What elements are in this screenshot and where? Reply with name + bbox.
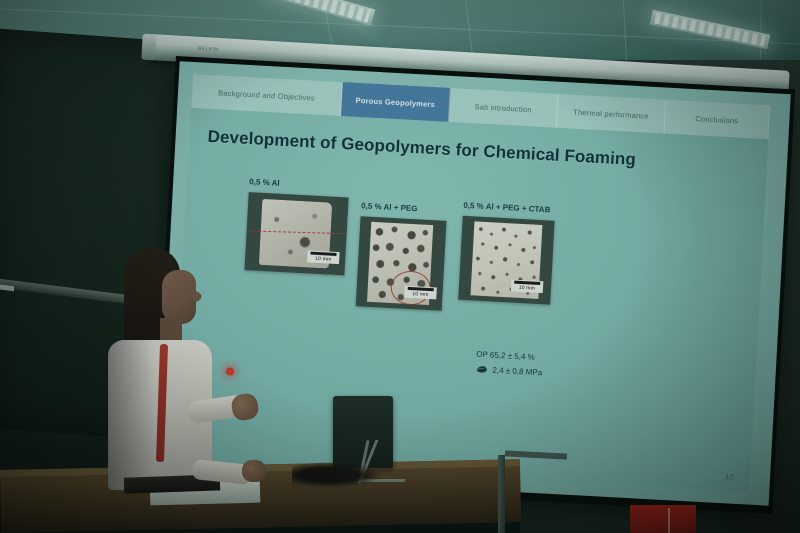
- scale-bar-label-3: 10 mm: [519, 284, 536, 291]
- sample-block-2: 0,5 % Al + PEG 10 mm: [356, 201, 448, 310]
- presenter: [96, 248, 246, 533]
- porosity-value: OP 65,2 ± 5,4 %: [476, 350, 535, 362]
- strength-value: 2,4 ± 0,8 MPa: [492, 365, 542, 377]
- tab-porous-geopolymers[interactable]: Porous Geopolymers: [341, 82, 451, 122]
- strength-muscle-icon: [475, 364, 489, 375]
- red-object-highlight: [668, 508, 670, 533]
- strength-row: 2,4 ± 0,8 MPa: [475, 364, 542, 378]
- roller-brand-label: BELKIN: [198, 46, 219, 53]
- scale-bar-label-2: 10 mm: [412, 291, 429, 298]
- scale-bar-1: 10 mm: [307, 250, 340, 263]
- desk-cables: [292, 462, 382, 488]
- presentation-slide: Background and Objectives Porous Geopoly…: [172, 74, 770, 493]
- scale-bar-2: 10 mm: [404, 286, 437, 299]
- sample-block-1: 0,5 % Al 10 mm: [245, 177, 350, 275]
- red-wall-object: [630, 505, 696, 533]
- screen-support-post: [498, 455, 505, 533]
- tab-salt-introduction[interactable]: Salt introduction: [449, 88, 559, 128]
- lecture-room-scene: BELKIN Background and Objectives Porous …: [0, 0, 800, 533]
- roller-end-cap: [141, 34, 156, 61]
- sample-block-3: 0,5 % Al + PEG + CTAB 10 mm: [458, 201, 555, 305]
- screen-surface: Background and Objectives Porous Geopoly…: [157, 61, 790, 505]
- projection-screen: Background and Objectives Porous Geopoly…: [153, 56, 795, 514]
- metrics-block: OP 65,2 ± 5,4 % 2,4 ± 0,8 MPa: [475, 350, 543, 383]
- chalk-piece: [0, 284, 14, 291]
- tab-thermal-performance[interactable]: Thermal performance: [557, 94, 667, 134]
- scale-bar-3: 10 mm: [511, 279, 544, 292]
- presenter-second-hand: [242, 460, 266, 482]
- tab-conclusions[interactable]: Conclusions: [665, 100, 771, 140]
- slide-page-number: 10: [725, 472, 734, 481]
- scale-bar-label-1: 10 mm: [315, 255, 332, 262]
